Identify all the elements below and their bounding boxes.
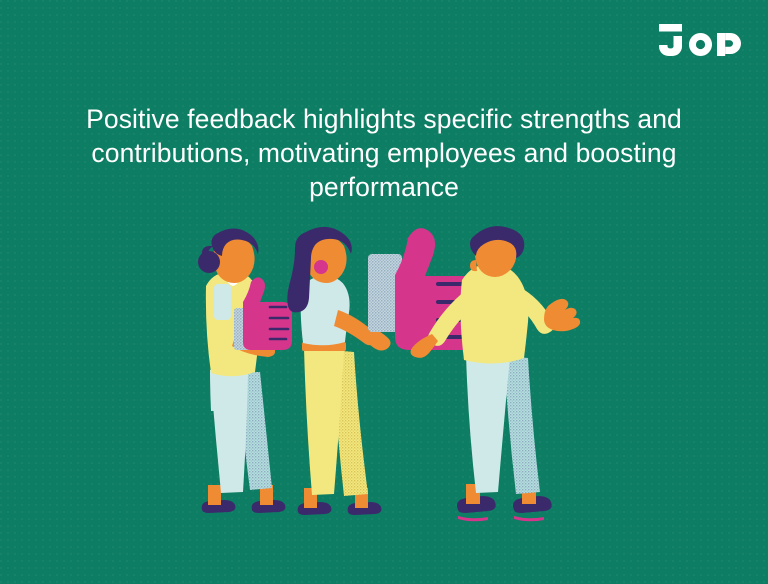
logo-letter-p-icon [717,33,741,56]
left-figure [198,228,285,513]
right-figure [411,226,581,521]
page-title: Positive feedback highlights specific st… [0,102,768,204]
headline-line-3: performance [60,170,708,204]
headline-line-2: contributions, motivating employees and … [60,136,708,170]
logo-letter-j-icon [657,24,684,56]
slide-canvas: Positive feedback highlights specific st… [0,0,768,584]
three-people-thumbs-up-illustration [180,222,600,534]
logo-letter-o-icon [689,33,712,56]
jop-logo [657,24,741,56]
headline-line-1: Positive feedback highlights specific st… [60,102,708,136]
